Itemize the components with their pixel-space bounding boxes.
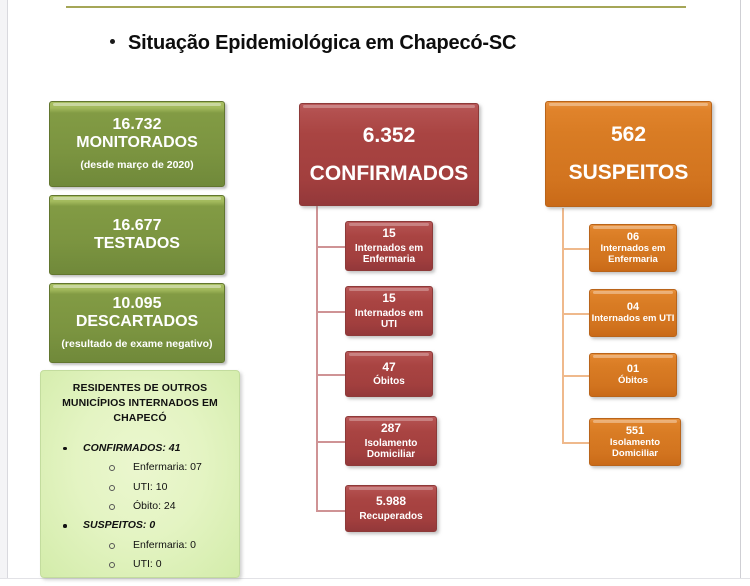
list-item-label: Óbito: 24 [133,500,176,512]
residents-panel: RESIDENTES DE OUTROS MUNICÍPIOS INTERNAD… [40,370,240,578]
connector-branch [316,246,346,248]
stat-caption: Recuperados [359,511,422,522]
stat-box-confirmados-isolamento: 287 Isolamento Domiciliar [345,416,437,466]
list-item: Enfermaria: 0 [83,536,231,555]
residents-group-label: CONFIRMADOS: 41 [83,442,180,454]
residents-panel-heading: RESIDENTES DE OUTROS MUNICÍPIOS INTERNAD… [49,381,231,427]
connector-trunk-suspeitos [562,208,564,444]
stat-box-suspeitos: 562 SUSPEITOS [545,101,712,207]
bullet-icon [63,447,67,451]
list-item-label: UTI: 10 [133,481,167,493]
stat-caption: Internados em Enfermaria [590,244,676,265]
stat-box-confirmados: 6.352 CONFIRMADOS [299,103,479,206]
page-title-text: Situação Epidemiológica em Chapecó-SC [128,32,516,55]
stat-number: 562 [611,123,646,147]
stat-subcaption: (resultado de exame negativo) [61,339,212,351]
page-left-edge [0,0,8,586]
stat-caption: CONFIRMADOS [310,162,469,186]
circle-bullet-icon [109,504,115,510]
bevel-highlight [53,285,221,288]
slide-canvas: Situação Epidemiológica em Chapecó-SC 16… [0,0,750,586]
residents-sublist: Enfermaria: 07 UTI: 10 Óbito: 24 [83,458,231,516]
connector-branch [316,441,346,443]
stat-box-confirmados-uti: 15 Internados em UTI [345,286,433,336]
stat-box-suspeitos-obitos: 01 Óbitos [589,353,677,397]
stat-caption: Internados em UTI [592,314,675,325]
stat-box-descartados: 10.095 DESCARTADOS (resultado de exame n… [49,283,225,363]
stat-subcaption: (desde março de 2020) [80,160,193,172]
stat-number: 5.988 [376,495,406,508]
stat-number: 15 [382,227,395,240]
connector-branch [316,374,346,376]
connector-branch [316,510,346,512]
bevel-highlight [349,353,429,356]
bevel-highlight [53,103,221,106]
page-title: Situação Epidemiológica em Chapecó-SC [110,32,516,55]
stat-number: 16.677 [113,217,162,235]
stat-box-testados: 16.677 TESTADOS [49,195,225,275]
bevel-highlight [349,487,433,490]
stat-number: 15 [382,292,395,305]
connector-branch [562,248,590,250]
list-item-label: Enfermaria: 07 [133,461,202,473]
stat-number: 16.732 [113,116,162,134]
bevel-highlight [53,197,221,200]
page-bottom-edge [0,578,750,586]
stat-box-suspeitos-isolamento: 551 Isolamento Domiciliar [589,418,681,466]
stat-caption: Óbitos [618,376,648,387]
stat-caption: MONITORADOS [76,134,197,152]
list-item: Óbito: 0 [83,575,231,578]
connector-branch [562,375,590,377]
list-item-label: Enfermaria: 0 [133,539,196,551]
list-item: UTI: 0 [83,555,231,574]
residents-list: CONFIRMADOS: 41 Enfermaria: 07 UTI: 10 Ó… [49,439,231,578]
stat-box-monitorados: 16.732 MONITORADOS (desde março de 2020) [49,101,225,187]
residents-sublist: Enfermaria: 0 UTI: 0 Óbito: 0 [83,536,231,578]
residents-group-label: SUSPEITOS: 0 [83,519,155,531]
bevel-highlight [593,355,673,358]
list-item: UTI: 10 [83,478,231,497]
stat-caption: Óbitos [373,376,405,387]
stat-number: 04 [627,301,639,313]
stat-caption: TESTADOS [94,235,180,253]
bullet-icon [110,39,115,44]
stat-number: 10.095 [113,295,162,313]
bevel-highlight [549,103,708,106]
stat-number: 01 [627,363,639,375]
stat-box-confirmados-obitos: 47 Óbitos [345,351,433,397]
circle-bullet-icon [109,465,115,471]
stat-number: 6.352 [363,124,416,148]
stat-caption: Isolamento Domiciliar [346,438,436,460]
bevel-highlight [593,226,673,229]
circle-bullet-icon [109,485,115,491]
stat-number: 06 [627,231,639,243]
bullet-icon [63,524,67,528]
circle-bullet-icon [109,562,115,568]
residents-group-confirmados: CONFIRMADOS: 41 Enfermaria: 07 UTI: 10 Ó… [49,439,231,517]
stat-number: 47 [382,361,395,374]
stat-caption: Isolamento Domiciliar [590,438,680,459]
bevel-highlight [303,105,475,108]
stat-caption: DESCARTADOS [76,313,198,331]
bevel-highlight [593,420,677,423]
stat-caption: SUSPEITOS [569,161,689,185]
circle-bullet-icon [109,543,115,549]
stat-box-confirmados-recuperados: 5.988 Recuperados [345,485,437,532]
bevel-highlight [593,291,673,294]
stat-number: 287 [381,422,401,435]
connector-branch [562,313,590,315]
list-item: Óbito: 24 [83,497,231,516]
header-rule [66,6,686,8]
residents-group-suspeitos: SUSPEITOS: 0 Enfermaria: 0 UTI: 0 Óbito:… [49,516,231,578]
stat-caption: Internados em UTI [346,308,432,330]
stat-box-suspeitos-uti: 04 Internados em UTI [589,289,677,337]
page-right-edge [740,0,750,586]
stat-caption: Internados em Enfermaria [346,243,432,265]
stat-number: 551 [626,425,644,437]
connector-branch [316,311,346,313]
list-item-label: UTI: 0 [133,558,162,570]
connector-trunk-confirmados [316,205,318,512]
stat-box-confirmados-enfermaria: 15 Internados em Enfermaria [345,221,433,271]
stat-box-suspeitos-enfermaria: 06 Internados em Enfermaria [589,224,677,272]
connector-branch [562,442,590,444]
list-item: Enfermaria: 07 [83,458,231,477]
